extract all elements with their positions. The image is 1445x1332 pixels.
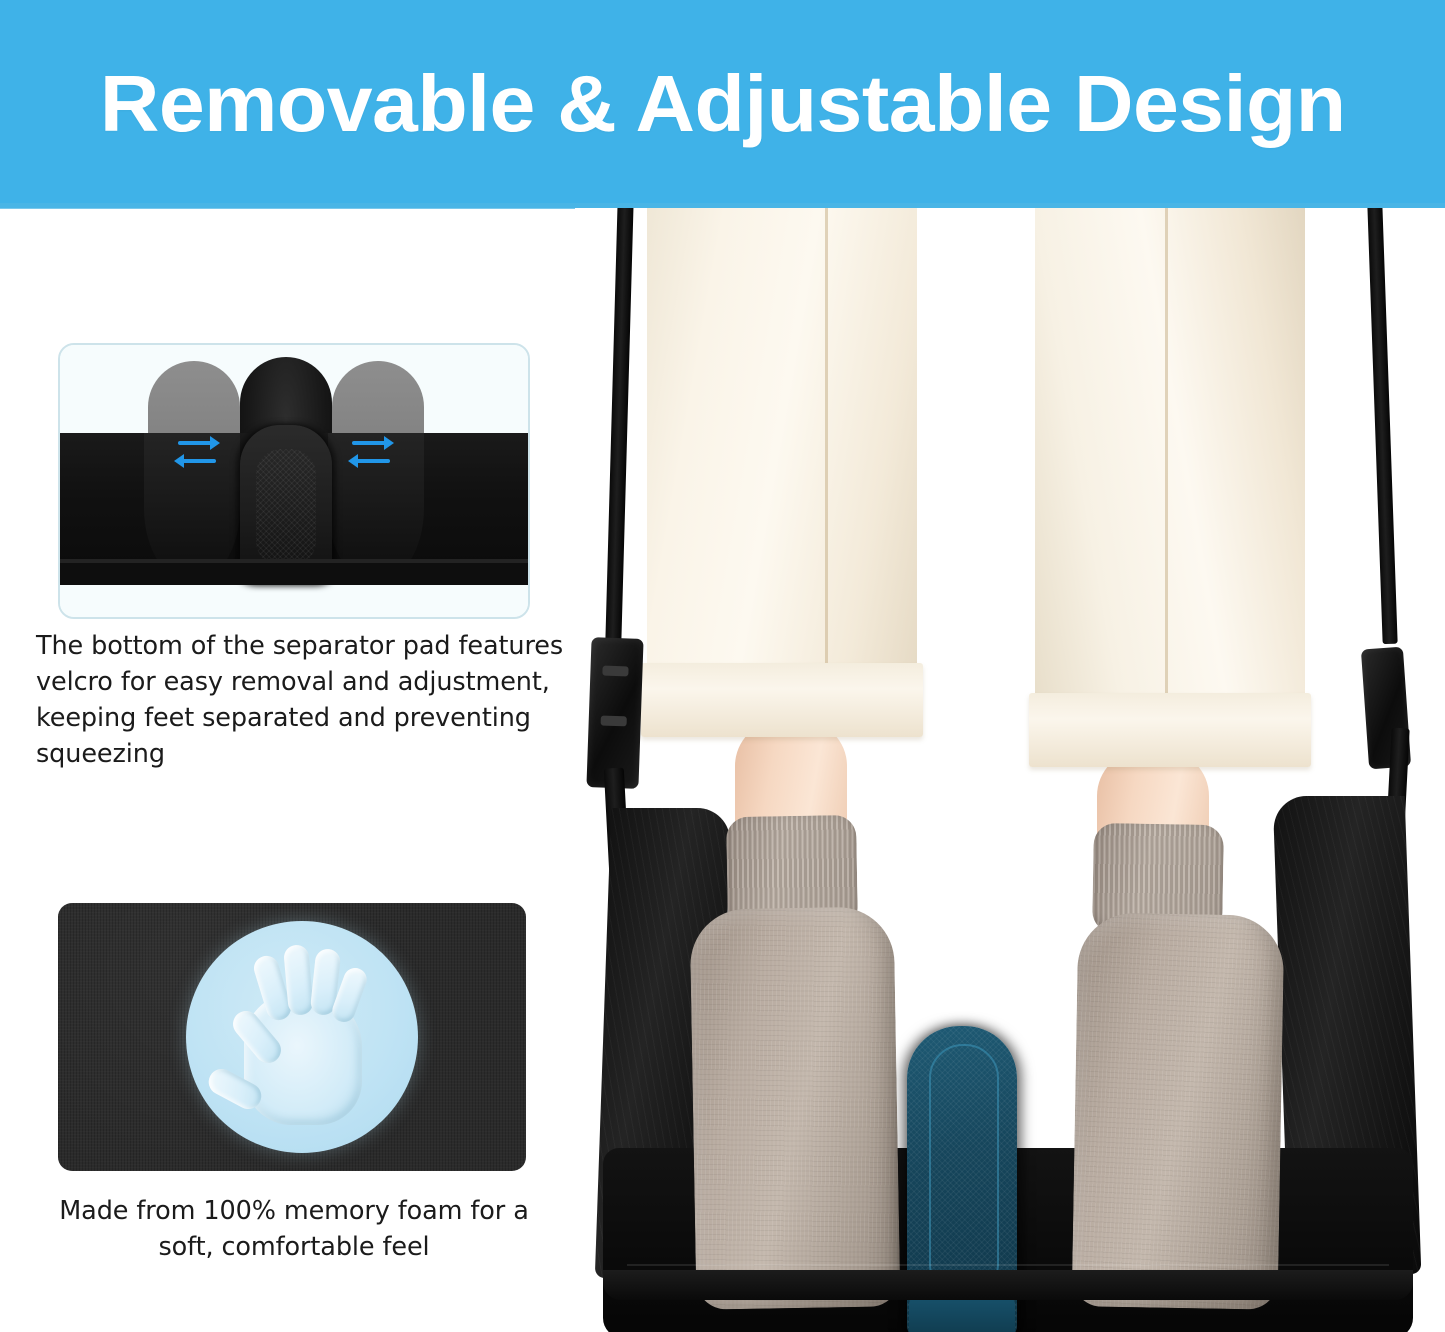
band-base (60, 563, 528, 585)
separator-pad-base (909, 1298, 1015, 1332)
strap-buckle-left (586, 637, 643, 789)
product-feature-image: Removable & Adjustable Design (0, 0, 1445, 1332)
trouser-cuff-left (641, 663, 923, 737)
adjust-arrows-right (352, 439, 398, 469)
sock-foot-left (690, 906, 901, 1309)
feature-caption-velcro: The bottom of the separator pad features… (36, 628, 566, 772)
trouser-leg-right (1035, 208, 1305, 757)
memory-foam-inset-image (58, 903, 526, 1171)
feature-column: The bottom of the separator pad features… (0, 208, 575, 1332)
page-title: Removable & Adjustable Design (100, 64, 1346, 144)
trouser-cuff-right (1029, 693, 1311, 767)
sock-foot-right (1072, 912, 1285, 1310)
arrow-right-icon (352, 441, 386, 445)
arrow-left-icon (182, 459, 216, 463)
separator-pad-photo (60, 345, 528, 617)
trouser-crease-right (1165, 208, 1168, 756)
arrow-left-icon (356, 459, 390, 463)
footrest-stitching (627, 1264, 1389, 1266)
strap-right-upper (1367, 208, 1397, 644)
mesh-texture (256, 449, 316, 567)
separator-pad-rib (929, 1044, 999, 1298)
feature-caption-memory-foam: Made from 100% memory foam for a soft, c… (36, 1193, 552, 1265)
memory-foam-circle (186, 921, 418, 1153)
trouser-crease-left (825, 208, 828, 728)
arrow-right-icon (178, 441, 212, 445)
header-banner: Removable & Adjustable Design (0, 0, 1445, 208)
product-photo (575, 208, 1445, 1332)
handprint-finger (283, 944, 314, 1016)
strap-left-upper (604, 208, 633, 674)
adjust-arrows-left (178, 439, 224, 469)
separator-pad-inset-image (58, 343, 530, 619)
footrest-base-lip (603, 1270, 1413, 1300)
trouser-leg-left (647, 208, 917, 727)
